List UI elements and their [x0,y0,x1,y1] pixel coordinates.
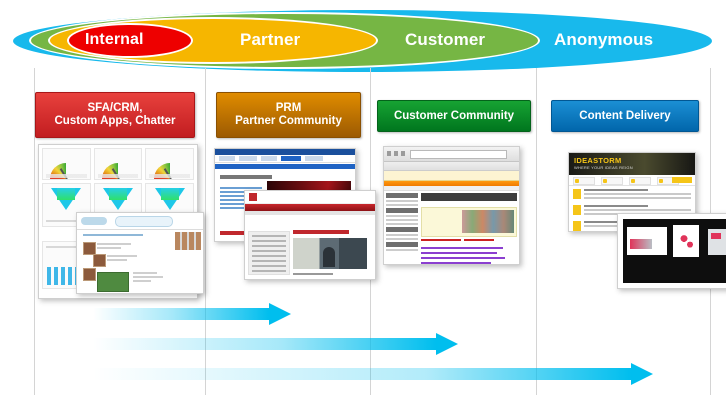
brand-logo-icon [249,193,257,201]
overview-caption [293,273,333,275]
gallery-panel-right [708,229,726,255]
screenshot-partners-overview[interactable] [244,190,376,280]
chatter-header [77,213,203,230]
column-divider-3 [536,68,537,395]
browser-url-bar[interactable] [410,150,507,159]
screenshot-ideastorm-gallery[interactable] [617,213,726,289]
community-banner [421,193,517,201]
avatar [83,268,96,281]
avatar [93,254,106,267]
community-body [384,191,519,265]
diagram-canvas: Internal Partner Customer Anonymous SFA/… [0,0,726,408]
chip-internal-line2: Custom Apps, Chatter [55,115,176,128]
community-sidebar [386,193,418,253]
chatter-people-grid [175,232,201,250]
overview-heading [293,230,349,234]
community-people-photo [462,210,514,233]
chatter-search-input[interactable] [115,216,173,227]
browser-bookmarks-bar [384,162,519,171]
ideastorm-banner-text: IDEASTORM [574,156,622,165]
gallery-panel-left [627,227,667,255]
overview-topbar [245,191,375,204]
chip-anonymous-line1: Content Delivery [579,110,670,123]
overview-sidebar [248,231,290,275]
header-chip-anonymous[interactable]: Content Delivery [551,100,699,132]
chatter-feed-body [77,230,203,293]
browser-nav-icons [387,151,407,156]
screenshot-chatter-feed[interactable] [76,212,204,294]
screenshot-customer-community[interactable] [383,146,520,265]
chip-partner-line2: Partner Community [235,115,342,128]
header-chip-partner[interactable]: PRM Partner Community [216,92,361,138]
gallery-panel-center [673,225,699,257]
portal-title-text [220,175,272,179]
label-partner: Partner [240,30,300,50]
label-anonymous: Anonymous [554,30,653,50]
chip-customer-line1: Customer Community [394,110,514,123]
ideastorm-banner: IDEASTORM WHERE YOUR IDEAS REIGN [569,153,695,175]
overview-photo [293,238,367,269]
arrow-internal-to-customer [93,333,458,355]
portal-tabs [215,155,355,163]
label-internal: Internal [85,31,144,49]
label-customer: Customer [405,30,485,50]
dashboard-gauge-2 [94,148,143,180]
ideastorm-tabs [569,175,695,186]
header-chip-internal[interactable]: SFA/CRM, Custom Apps, Chatter [35,92,195,138]
browser-chrome [384,147,519,162]
overview-body [245,215,375,278]
community-hero-panel [421,207,517,237]
notification-bar [384,171,519,181]
ideastorm-cta-button[interactable] [672,177,692,183]
header-chip-customer[interactable]: Customer Community [377,100,531,132]
list-item[interactable] [573,189,691,201]
chatter-logo-icon [81,217,107,225]
dashboard-gauge-3 [145,148,194,180]
overview-red-nav [245,204,375,211]
arrow-internal-to-partner [93,303,291,325]
arrow-internal-to-anonymous [93,363,653,385]
portal-blue-bar [215,164,355,169]
chip-internal-line1: SFA/CRM, [55,102,176,115]
ideastorm-banner-subtext: WHERE YOUR IDEAS REIGN [574,165,633,170]
audience-ellipses: Internal Partner Customer Anonymous [0,0,726,80]
dashboard-gauge-1 [42,148,91,180]
gallery-dark-canvas [623,219,726,283]
chip-partner-line1: PRM [235,102,342,115]
chatter-video-thumb [97,272,129,292]
